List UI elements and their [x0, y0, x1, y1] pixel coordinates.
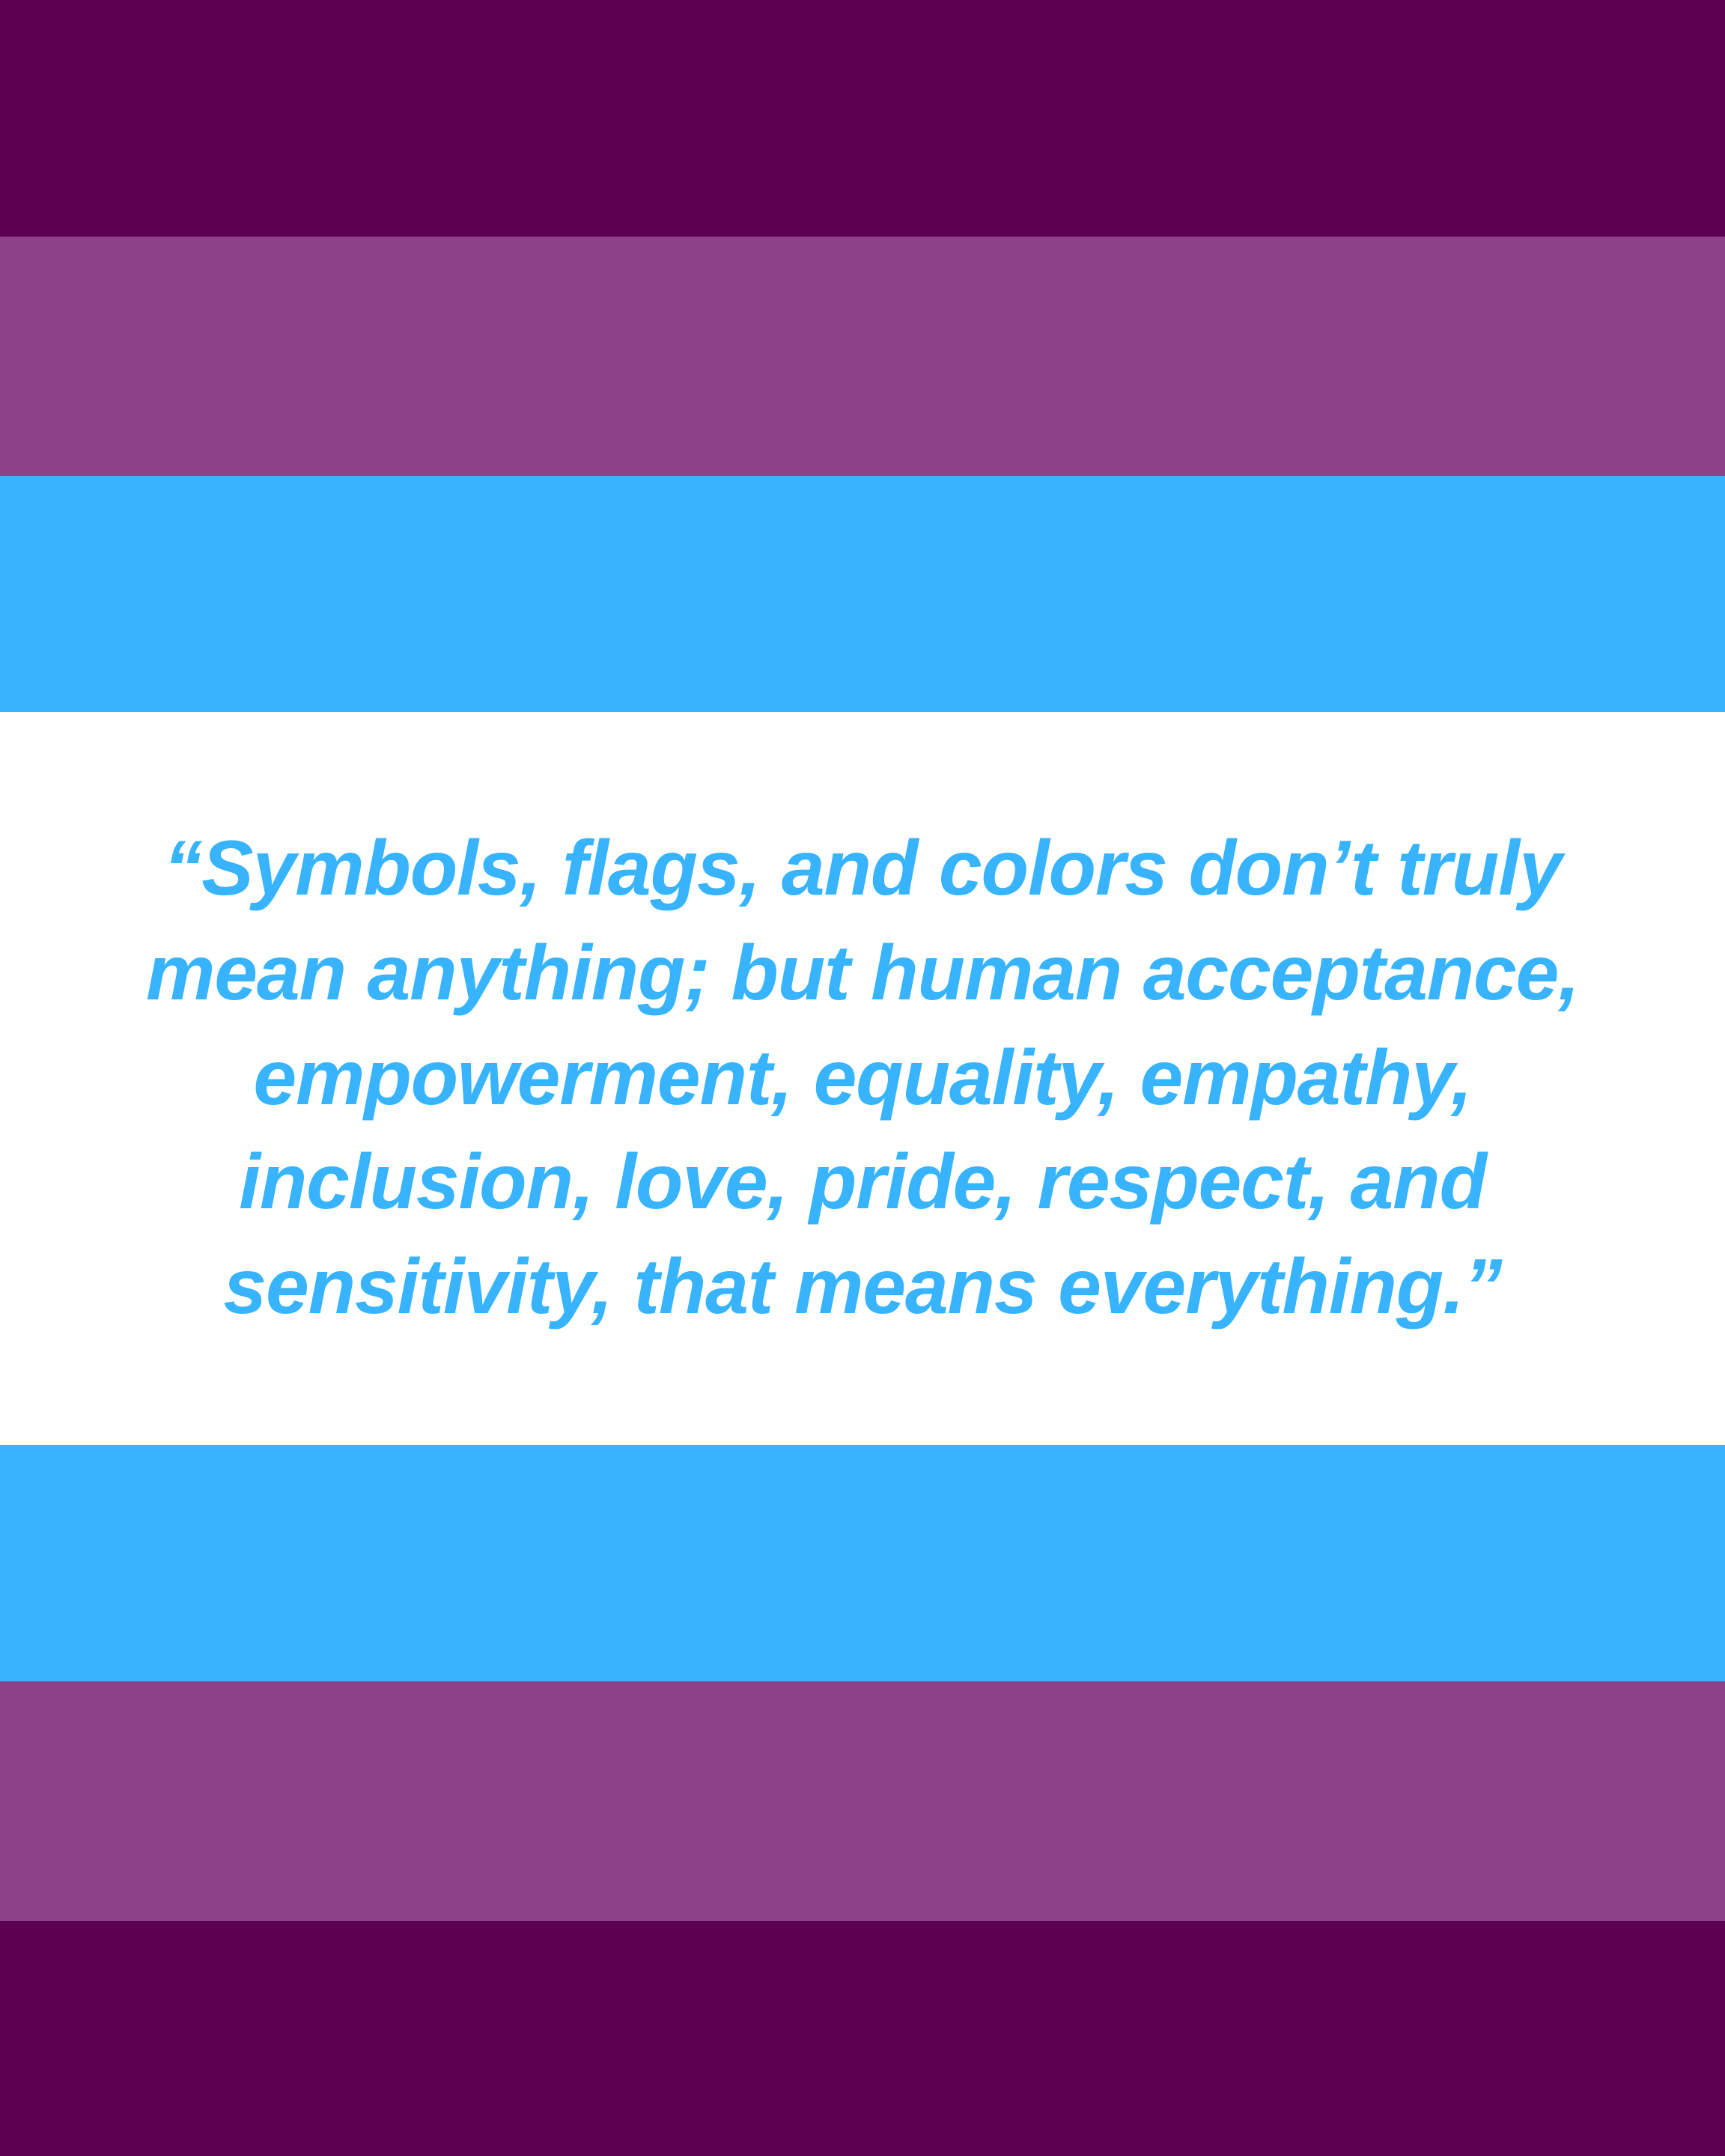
flag-stripe-upper-blue — [0, 476, 1725, 712]
flag-stripe-lower-purple — [0, 1681, 1725, 1921]
flag-stripe-lower-blue — [0, 1445, 1725, 1681]
quote-container: “Symbols, flags, and colors don’t truly … — [0, 712, 1725, 1445]
flag-stripe-upper-purple — [0, 237, 1725, 476]
flag-quote-canvas: “Symbols, flags, and colors don’t truly … — [0, 0, 1725, 2156]
quote-text: “Symbols, flags, and colors don’t truly … — [79, 817, 1646, 1340]
flag-stripe-bottom-dark-purple — [0, 1921, 1725, 2156]
flag-stripe-top-dark-purple — [0, 0, 1725, 237]
